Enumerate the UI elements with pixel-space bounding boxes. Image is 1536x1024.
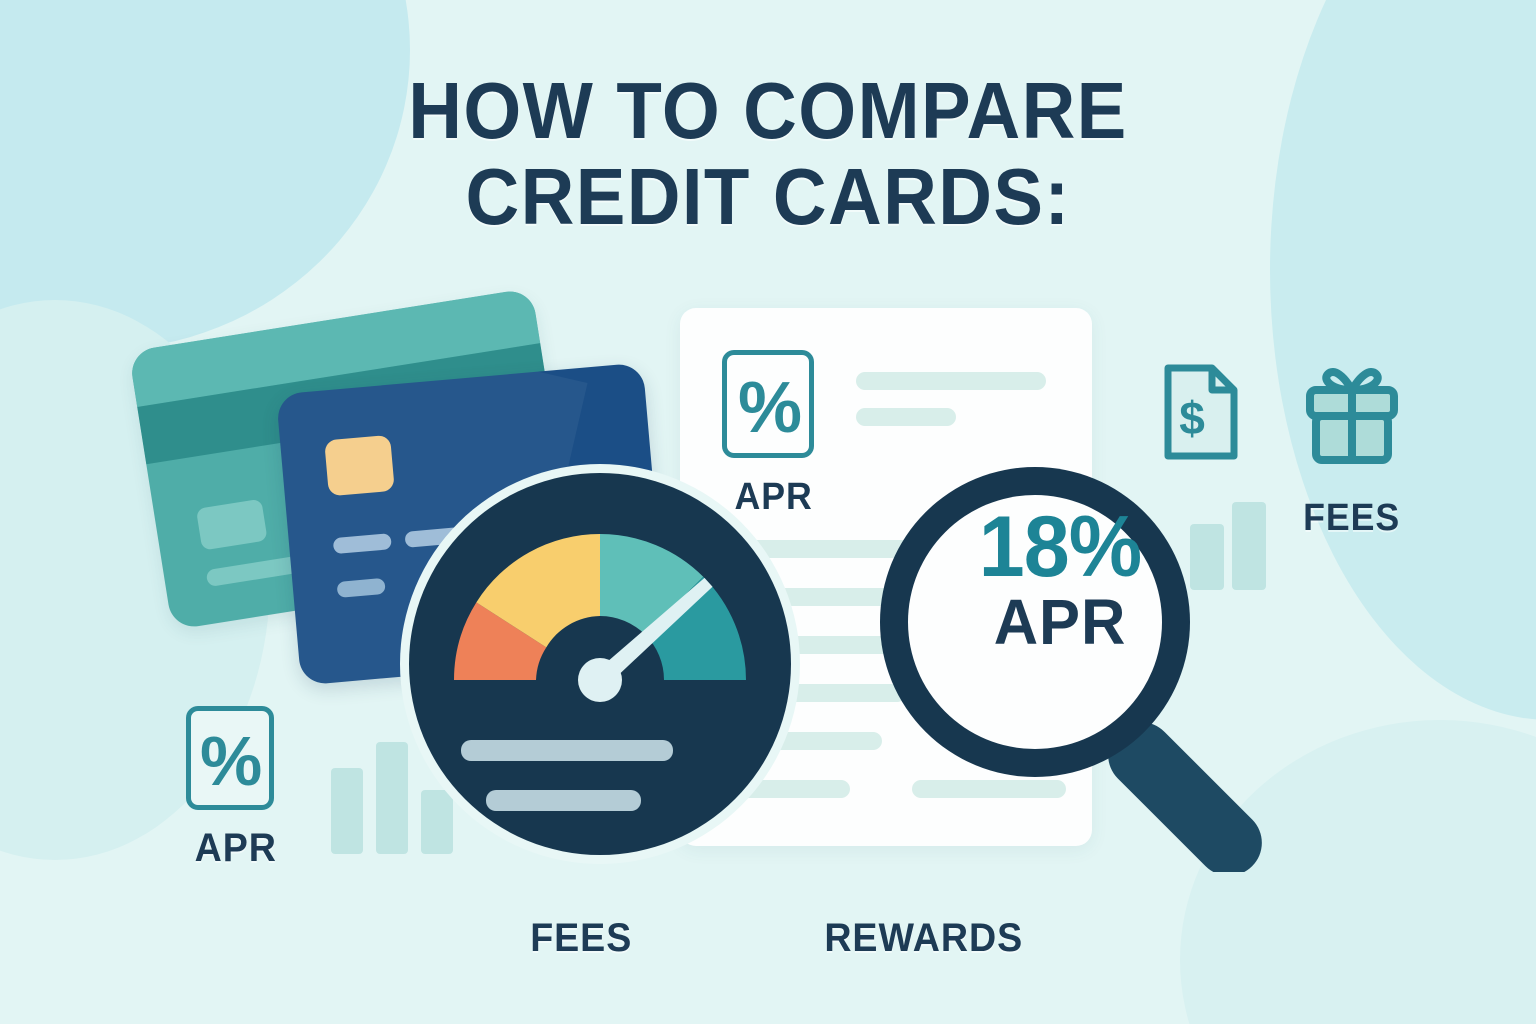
page-title: HOW TO COMPARE CREDIT CARDS: [0, 68, 1536, 241]
label-rewards-document: REWARDS [824, 916, 1023, 961]
percent-icon: % [722, 350, 814, 458]
card-chip [196, 499, 268, 551]
label-fees-gift: FEES [1303, 497, 1400, 540]
magnifier-readout: 18% APR [935, 505, 1185, 656]
card-chip [324, 435, 395, 497]
apr-value: 18% [940, 505, 1180, 589]
percent-glyph: % [200, 719, 262, 803]
gauge-info-bar [461, 740, 673, 761]
gift-svg [1302, 358, 1402, 466]
percent-glyph: % [738, 365, 802, 451]
infographic-canvas: HOW TO COMPARE CREDIT CARDS: % APR [0, 0, 1536, 1024]
title-line-2: CREDIT CARDS: [54, 154, 1482, 240]
label-fees-gauge: FEES [530, 916, 632, 961]
gauge-info-bar [486, 790, 641, 811]
title-line-1: HOW TO COMPARE [54, 68, 1482, 154]
bar-chart-bar [331, 768, 363, 854]
document-placeholder-line [856, 372, 1046, 390]
label-apr-bottom-left: APR [195, 826, 277, 871]
gauge-svg [398, 462, 802, 866]
speedometer-gauge-icon[interactable] [398, 462, 802, 866]
apr-unit: APR [940, 589, 1180, 656]
percent-icon[interactable]: % [186, 706, 274, 810]
gift-icon[interactable] [1302, 358, 1402, 471]
document-placeholder-line [856, 408, 956, 426]
